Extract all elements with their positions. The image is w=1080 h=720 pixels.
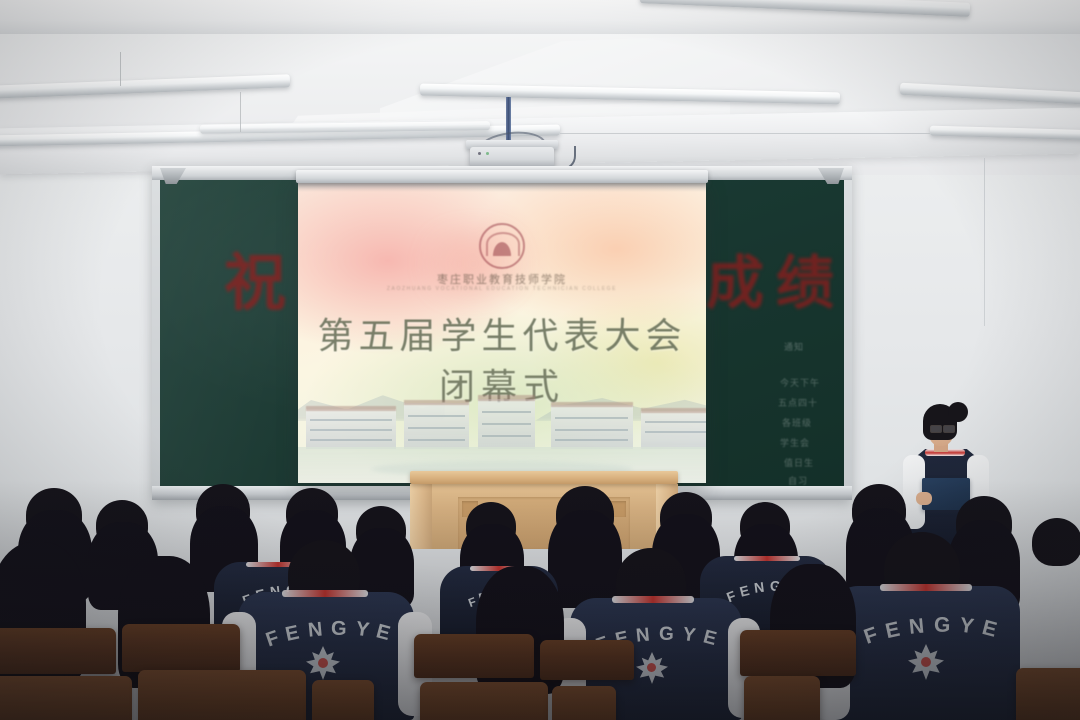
projection-screen: 枣庄职业教育技师学院 ZAOZHUANG VOCATIONAL EDUCATIO… xyxy=(298,183,706,483)
projector-indicator-led xyxy=(478,152,481,155)
building-window-row xyxy=(482,411,531,413)
audience-area: FENGYE FENGYE FENGYE FENGYE FENGYE FENGY… xyxy=(0,470,1080,720)
building-window-row xyxy=(645,431,706,433)
campus-building-roof xyxy=(478,395,535,401)
standing-student-eyeglasses xyxy=(930,425,942,433)
auditorium-seat xyxy=(122,624,240,672)
blackboard-red-chalk-left: 祝 xyxy=(224,232,286,322)
standing-student-eyeglasses xyxy=(943,425,955,433)
uniform-brand-text: FENGYE xyxy=(862,611,1009,640)
slide-campus-photo xyxy=(298,379,706,483)
slide-title-main: 第五届学生代表大会 xyxy=(317,307,686,359)
uniform-brand-text: FENGYE xyxy=(264,616,401,644)
building-window-row xyxy=(555,417,628,419)
auditorium-seat xyxy=(744,676,820,720)
campus-building-roof xyxy=(404,400,469,405)
campus-building-roof xyxy=(306,406,396,411)
uniform-collar-stripe xyxy=(880,584,972,591)
auditorium-seat xyxy=(414,634,534,678)
maple-leaf-center xyxy=(921,657,931,667)
projector-indicator-led xyxy=(486,152,489,155)
classroom-assembly-photo: 祝 成绩 通知 今天下午 五点四十 各班级 学生会 值日生 自习 枣庄职业教育技… xyxy=(0,0,1080,720)
light-hanger-wire xyxy=(240,92,241,132)
building-window-row xyxy=(482,435,531,437)
auditorium-seat xyxy=(0,676,132,720)
light-hanger-wire xyxy=(120,52,121,86)
slide-org-name-pinyin: ZAOZHUANG VOCATIONAL EDUCATION TECHNICIA… xyxy=(387,286,617,292)
blackboard-chalk-line: 通知 xyxy=(784,340,804,353)
blackboard-chalk-line: 值日生 xyxy=(784,456,814,469)
uniform-collar-stripe xyxy=(734,556,800,561)
auditorium-seat xyxy=(540,640,634,680)
building-window-row xyxy=(555,439,628,441)
building-window-row xyxy=(310,429,392,431)
campus-building xyxy=(551,405,633,449)
building-window-row xyxy=(310,419,392,421)
auditorium-seat xyxy=(138,670,306,720)
blackboard-chalk-line: 五点四十 xyxy=(778,396,818,409)
blackboard-red-chalk-right: 成绩 xyxy=(706,236,846,320)
auditorium-seat xyxy=(420,682,548,720)
campus-building-roof xyxy=(641,408,706,413)
ceiling-cable xyxy=(560,133,930,134)
campus-building-roof xyxy=(551,402,633,407)
projection-screen-case xyxy=(296,170,708,183)
maple-leaf-center xyxy=(647,663,656,672)
auditorium-seat xyxy=(740,630,856,676)
school-crest-icon xyxy=(479,223,525,269)
campus-building xyxy=(404,403,469,449)
screen-top-shadow xyxy=(298,183,706,192)
building-window-row xyxy=(408,415,465,417)
building-window-row xyxy=(645,421,706,423)
campus-building xyxy=(641,411,706,449)
blackboard-chalk-line: 各班级 xyxy=(782,416,812,429)
building-window-row xyxy=(482,423,531,425)
uniform-collar-stripe xyxy=(612,596,694,603)
building-window-row xyxy=(408,427,465,429)
wall-cable xyxy=(984,158,985,326)
building-window-row xyxy=(310,439,392,441)
building-window-row xyxy=(555,429,628,431)
auditorium-seat xyxy=(0,628,116,674)
auditorium-seat xyxy=(312,680,374,720)
uniform-collar-stripe xyxy=(282,590,368,597)
audience-hair xyxy=(548,510,622,608)
auditorium-seat xyxy=(552,686,616,720)
slide-org-name: 枣庄职业教育技师学院 xyxy=(437,271,567,287)
audience-head xyxy=(1032,518,1080,566)
blackboard-chalk-line: 今天下午 xyxy=(780,376,820,389)
blackboard-chalk-line: 学生会 xyxy=(780,436,810,449)
maple-leaf-center xyxy=(318,658,328,668)
building-window-row xyxy=(408,439,465,441)
auditorium-seat xyxy=(1016,668,1080,720)
standing-student-hair-bun xyxy=(948,402,968,422)
